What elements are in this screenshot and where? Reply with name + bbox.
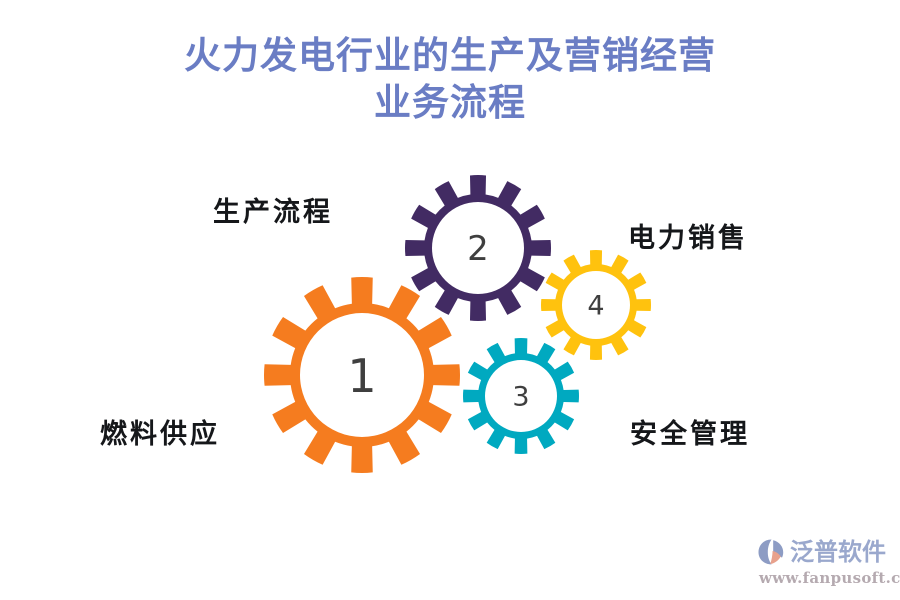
gear-label-production: 生产流程	[213, 190, 333, 229]
slide-canvas: 火力发电行业的生产及营销经营 业务流程 1234 生产流程 电力销售 燃料供应 …	[0, 0, 900, 600]
gear-2-number: 2	[467, 229, 489, 269]
gear-1-number: 1	[347, 349, 376, 403]
gear-diagram-svg: 1234	[0, 0, 900, 600]
gear-label-fuel: 燃料供应	[100, 412, 220, 451]
brand-logo: 泛普软件 www.fanpusoft.com	[757, 536, 893, 588]
brand-logo-name: 泛普软件	[790, 540, 886, 564]
brand-logo-url: www.fanpusoft.com	[759, 569, 900, 587]
gear-label-safety: 安全管理	[630, 412, 750, 451]
gear-label-sales: 电力销售	[628, 216, 748, 255]
gear-3-number: 3	[512, 382, 529, 413]
fanpu-logo-icon	[757, 538, 787, 566]
gear-4-number: 4	[587, 291, 604, 322]
brand-logo-row: 泛普软件	[757, 536, 886, 568]
gear-diagram: 1234	[0, 0, 900, 600]
